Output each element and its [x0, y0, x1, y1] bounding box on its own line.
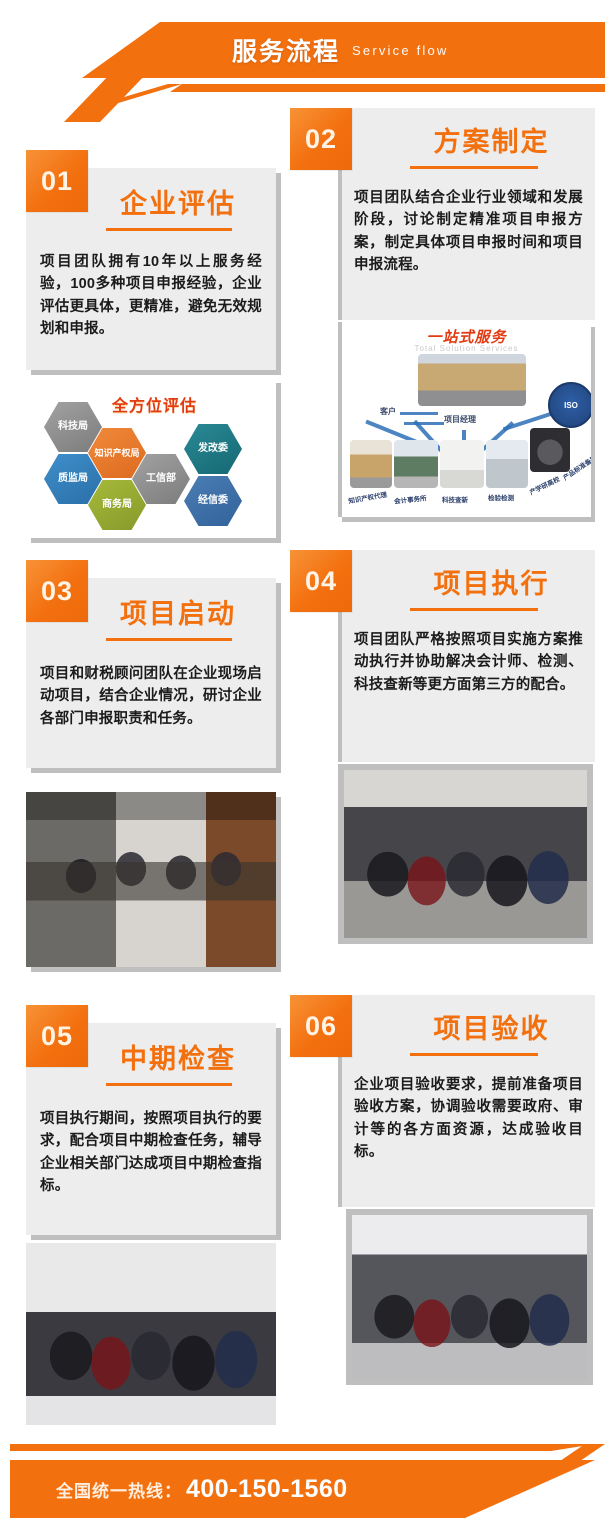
iso-seal-label: ISO [564, 401, 578, 410]
step-title-06: 项目验收 [400, 1007, 583, 1046]
photo-overlay [344, 770, 587, 938]
step-body-05: 项目执行期间，按照项目执行的要求，配合项目中期检查任务，辅导企业相关部门达成项目… [40, 1108, 262, 1198]
hexagon-node-label: 科技局 [58, 421, 88, 433]
hotline-label: 全国统一热线： [56, 1477, 182, 1502]
hexagon-node-label: 商务局 [102, 499, 132, 511]
hexagon-node-label: 工信部 [146, 473, 176, 485]
step-card-05[interactable]: 05 中期检查 项目执行期间，按照项目执行的要求，配合项目中期检查任务，辅导企业… [10, 1005, 282, 1385]
page-subtitle: Service flow [352, 43, 448, 58]
step-card-06[interactable]: 06 项目验收 企业项目验收要求，提前准备项目验收方案，协调验收需要政府、审计等… [290, 995, 595, 1385]
page-title: 服务流程 [232, 32, 340, 68]
step-title-underline-05 [106, 1083, 232, 1086]
page-header: 服务流程 Service flow [0, 0, 605, 112]
step-body-02: 项目团队结合企业行业领域和发展阶段，讨论制定精准项目申报方案，制定具体项目申报时… [354, 187, 583, 277]
hotline-number[interactable]: 400-150-1560 [186, 1475, 348, 1504]
photo-overlay [26, 792, 276, 967]
hexagon-node-label: 经信委 [198, 495, 228, 507]
hexagon-node-label: 知识产权局 [94, 448, 139, 458]
step-body-03: 项目和财税顾问团队在企业现场启动项目，结合企业情况，研讨企业各部门申报职责和任务… [40, 663, 262, 730]
step-card-02[interactable]: 02 方案制定 项目团队结合企业行业领域和发展阶段，讨论制定精准项目申报方案，制… [290, 108, 595, 528]
hexagon-graphic-title: 全方位评估 [112, 392, 197, 416]
step-title-underline-01 [106, 228, 232, 231]
step-title-04: 项目执行 [400, 562, 583, 601]
step-card-03[interactable]: 03 项目启动 项目和财税顾问团队在企业现场启动项目，结合企业情况，研讨企业各部… [10, 560, 282, 980]
step-title-01: 企业评估 [94, 182, 262, 221]
step-title-03: 项目启动 [94, 592, 262, 631]
photo-overlay [352, 1215, 587, 1379]
one-stop-service-photo [486, 440, 528, 488]
step-number-badge-01: 01 [26, 150, 88, 212]
hexagon-node-jingxin: 经信委 [184, 476, 242, 526]
header-accent-stripe [0, 84, 605, 92]
step-body-04: 项目团队严格按照项目实施方案推动执行并协助解决会计师、检测、科技查新等更方面第三… [354, 629, 583, 696]
one-stop-arrow [400, 412, 438, 415]
step-card-04[interactable]: 04 项目执行 项目团队严格按照项目实施方案推动执行并协助解决会计师、检测、科技… [290, 550, 595, 970]
hexagon-node-label: 质监局 [58, 473, 88, 485]
step-photo-06 [346, 1209, 593, 1385]
step-title-underline-04 [410, 608, 538, 611]
step-card-01[interactable]: 01 企业评估 项目团队拥有10年以上服务经验，100多种项目申报经验，企业评估… [10, 150, 282, 540]
one-stop-service-label: 科技查新 [442, 494, 468, 504]
step-number-badge-05: 05 [26, 1005, 88, 1067]
one-stop-service-label: 知识产权代理 [347, 489, 387, 506]
hexagon-node-fagai: 发改委 [184, 424, 242, 474]
step-title-underline-02 [410, 166, 538, 169]
one-stop-service-photo [394, 440, 438, 488]
step-title-underline-03 [106, 638, 232, 641]
step-photo-03 [26, 792, 276, 967]
step-title-02: 方案制定 [400, 120, 583, 159]
step-body-06: 企业项目验收要求，提前准备项目验收方案，协调验收需要政府、审计等的各方面资源，达… [354, 1074, 583, 1164]
hexagon-node-label: 发改委 [198, 443, 228, 455]
one-stop-node-client: 客户 [380, 406, 396, 417]
service-flow-poster: 服务流程 Service flow 01 企业评估 项目团队拥有10年以上服务经… [0, 0, 605, 1538]
page-footer: 全国统一热线： 400-150-1560 [0, 1388, 605, 1538]
one-stop-node-manager: 项目经理 [444, 414, 476, 425]
step-number-badge-06: 06 [290, 995, 352, 1057]
one-stop-service-label: 会计事务所 [394, 492, 427, 505]
step-title-underline-06 [410, 1053, 538, 1056]
one-stop-hero-photo [418, 354, 526, 406]
one-stop-arrow [404, 422, 444, 425]
one-stop-service-photo [530, 428, 570, 472]
one-stop-service-label: 产学研高校 [527, 473, 561, 496]
footer-hotline-group: 全国统一热线： 400-150-1560 [56, 1460, 348, 1518]
step-title-05: 中期检查 [94, 1037, 262, 1076]
step-number-badge-04: 04 [290, 550, 352, 612]
iso-seal-icon: ISO [548, 382, 591, 428]
step-number-badge-02: 02 [290, 108, 352, 170]
one-stop-service-photo [440, 440, 484, 488]
header-title-group: 服务流程 Service flow [0, 22, 605, 78]
one-stop-service-graphic: 一站式服务 Total Solution Services 客户 项目经理 IS… [338, 322, 591, 517]
one-stop-service-photo [350, 440, 392, 488]
step-number-badge-03: 03 [26, 560, 88, 622]
one-stop-service-label: 检验检测 [488, 492, 514, 502]
footer-accent-stripe [10, 1444, 595, 1451]
step-body-01: 项目团队拥有10年以上服务经验，100多种项目申报经验，企业评估更具体，更精准，… [40, 251, 262, 341]
one-stop-subtitle: Total Solution Services [342, 344, 591, 353]
assessment-hexagon-graphic: 全方位评估 科技局 知识产权局 质监局 工信部 商务局 发改委 经信委 [26, 378, 276, 538]
step-photo-04 [338, 764, 593, 944]
